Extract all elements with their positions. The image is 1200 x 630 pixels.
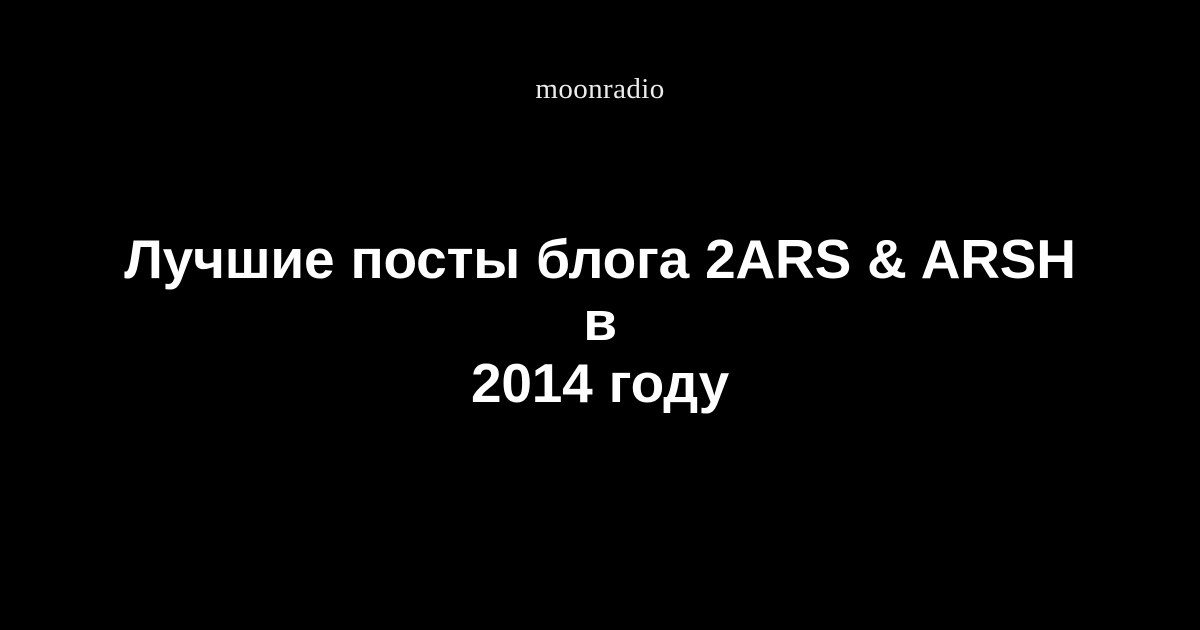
page-title: Лучшие посты блога 2ARS & ARSH в 2014 го…: [100, 228, 1100, 414]
headline-container: Лучшие посты блога 2ARS & ARSH в 2014 го…: [100, 228, 1100, 414]
open-graph-card: moonradio Лучшие посты блога 2ARS & ARSH…: [0, 0, 1200, 630]
site-name: moonradio: [0, 72, 1200, 106]
headline-line-1: Лучшие посты блога 2ARS & ARSH в: [124, 228, 1075, 352]
headline-line-2: 2014 году: [471, 352, 729, 414]
